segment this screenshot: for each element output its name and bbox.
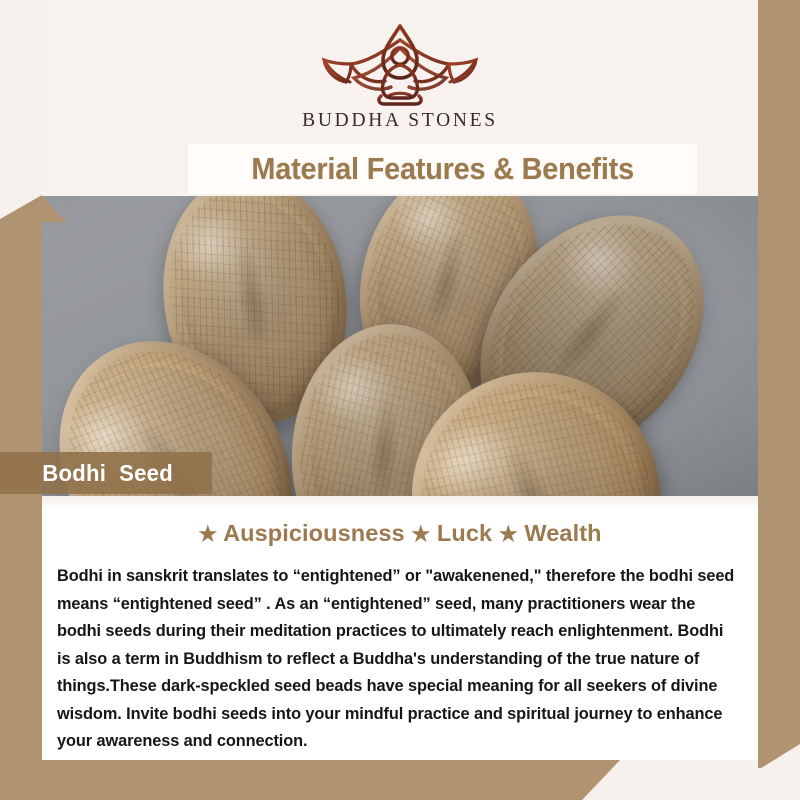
- photo-caption: Bodhi Seed: [0, 460, 173, 487]
- benefit-label-1: Auspiciousness: [223, 520, 405, 546]
- benefits-tagline: ★ Auspiciousness ★ Luck ★ Wealth: [42, 520, 758, 547]
- star-icon-3: ★: [499, 523, 518, 546]
- photo-caption-band: Bodhi Seed: [0, 452, 212, 494]
- photo-corner-accent: [42, 196, 66, 222]
- header: BUDDHA STONES Material Features & Benefi…: [42, 0, 758, 200]
- brand-name: BUDDHA STONES: [302, 110, 498, 132]
- frame-band-right: [758, 0, 800, 768]
- infographic-page: BUDDHA STONES Material Features & Benefi…: [0, 0, 800, 800]
- benefit-label-2: Luck: [437, 520, 492, 546]
- description-paragraph: Bodhi in sanskrit translates to “entight…: [57, 562, 739, 755]
- star-icon-2: ★: [411, 523, 430, 546]
- brand-logo: BUDDHA STONES: [42, 18, 758, 132]
- benefit-label-3: Wealth: [524, 520, 601, 546]
- content-card: ★ Auspiciousness ★ Luck ★ Wealth Bodhi i…: [42, 498, 758, 760]
- bodhi-seed-photo: [42, 196, 758, 496]
- page-title: Material Features & Benefits: [251, 151, 634, 187]
- star-icon-1: ★: [198, 523, 217, 546]
- frame-band-left: [0, 195, 42, 800]
- lotus-meditation-icon: [305, 18, 495, 106]
- content-top-fade: [42, 498, 758, 508]
- title-band: Material Features & Benefits: [188, 144, 697, 194]
- frame-band-bottom: [0, 758, 620, 800]
